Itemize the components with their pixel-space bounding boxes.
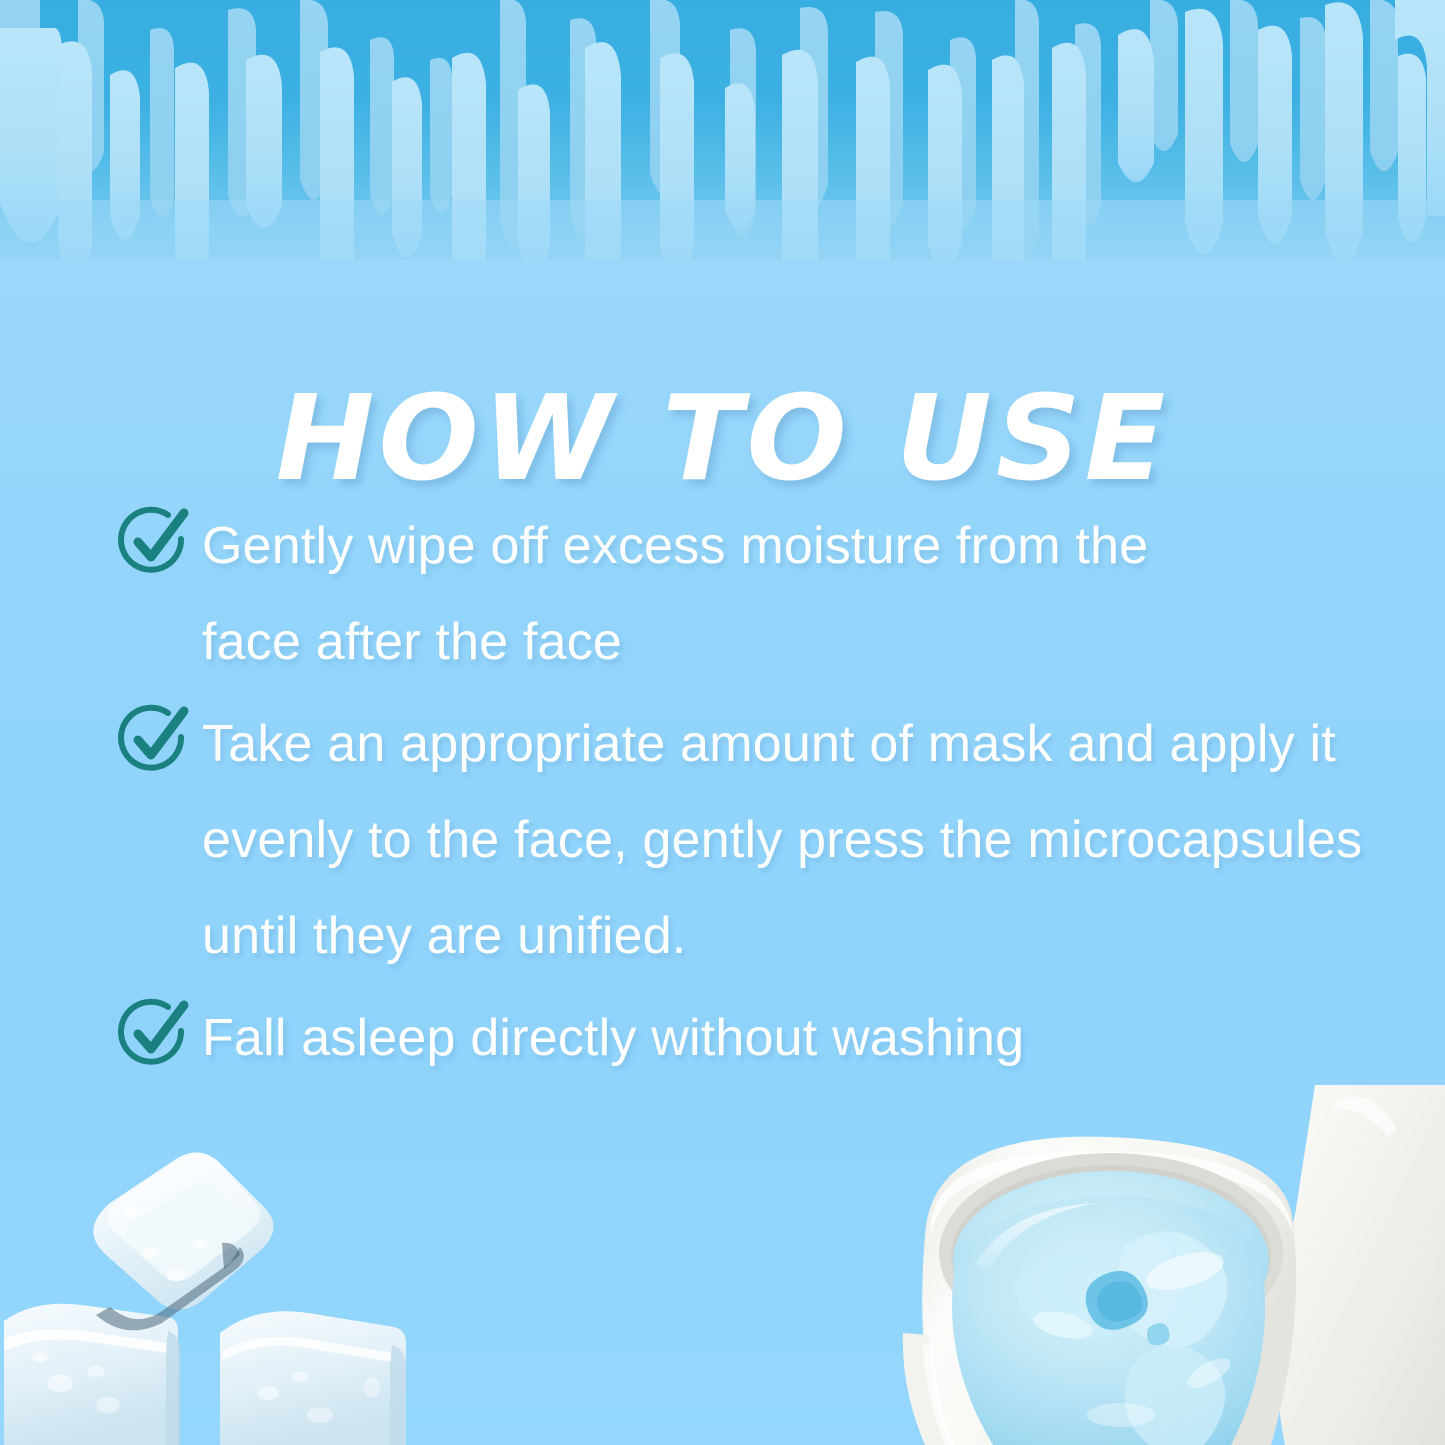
ice-cube-top — [93, 1152, 273, 1330]
icicle-shapes — [0, 0, 1445, 260]
step-text: Take an appropriate amount of mask and a… — [118, 696, 1408, 984]
check-circle-icon — [118, 704, 192, 778]
jar-lid — [1276, 1085, 1445, 1445]
icicle-decoration-band — [0, 0, 1445, 260]
page-title: HOW TO USE — [0, 379, 1445, 497]
ice-cubes-photo — [0, 1125, 430, 1445]
step-text: Fall asleep directly without washing — [118, 990, 1408, 1086]
list-item: Take an appropriate amount of mask and a… — [118, 696, 1408, 984]
step-line: Gently wipe off excess moisture from the — [202, 498, 1408, 594]
how-to-use-steps-list: Gently wipe off excess moisture from the… — [118, 498, 1408, 1092]
step-text: Gently wipe off excess moisture from the… — [118, 498, 1408, 690]
step-line: until they are unified. — [202, 888, 1408, 984]
step-line: face after the face — [202, 594, 1408, 690]
check-circle-icon — [118, 998, 192, 1072]
step-line: Fall asleep directly without washing — [202, 990, 1408, 1086]
cream-jar-photo — [885, 1085, 1445, 1445]
how-to-use-poster: HOW TO USE Gently wipe off excess moistu… — [0, 0, 1445, 1445]
step-line: evenly to the face, gently press the mic… — [202, 792, 1408, 888]
ice-cube-right — [220, 1311, 406, 1445]
step-line: Take an appropriate amount of mask and a… — [202, 696, 1408, 792]
cream-content — [952, 1171, 1269, 1445]
check-circle-icon — [118, 506, 192, 580]
list-item: Fall asleep directly without washing — [118, 990, 1408, 1086]
list-item: Gently wipe off excess moisture from the… — [118, 498, 1408, 690]
